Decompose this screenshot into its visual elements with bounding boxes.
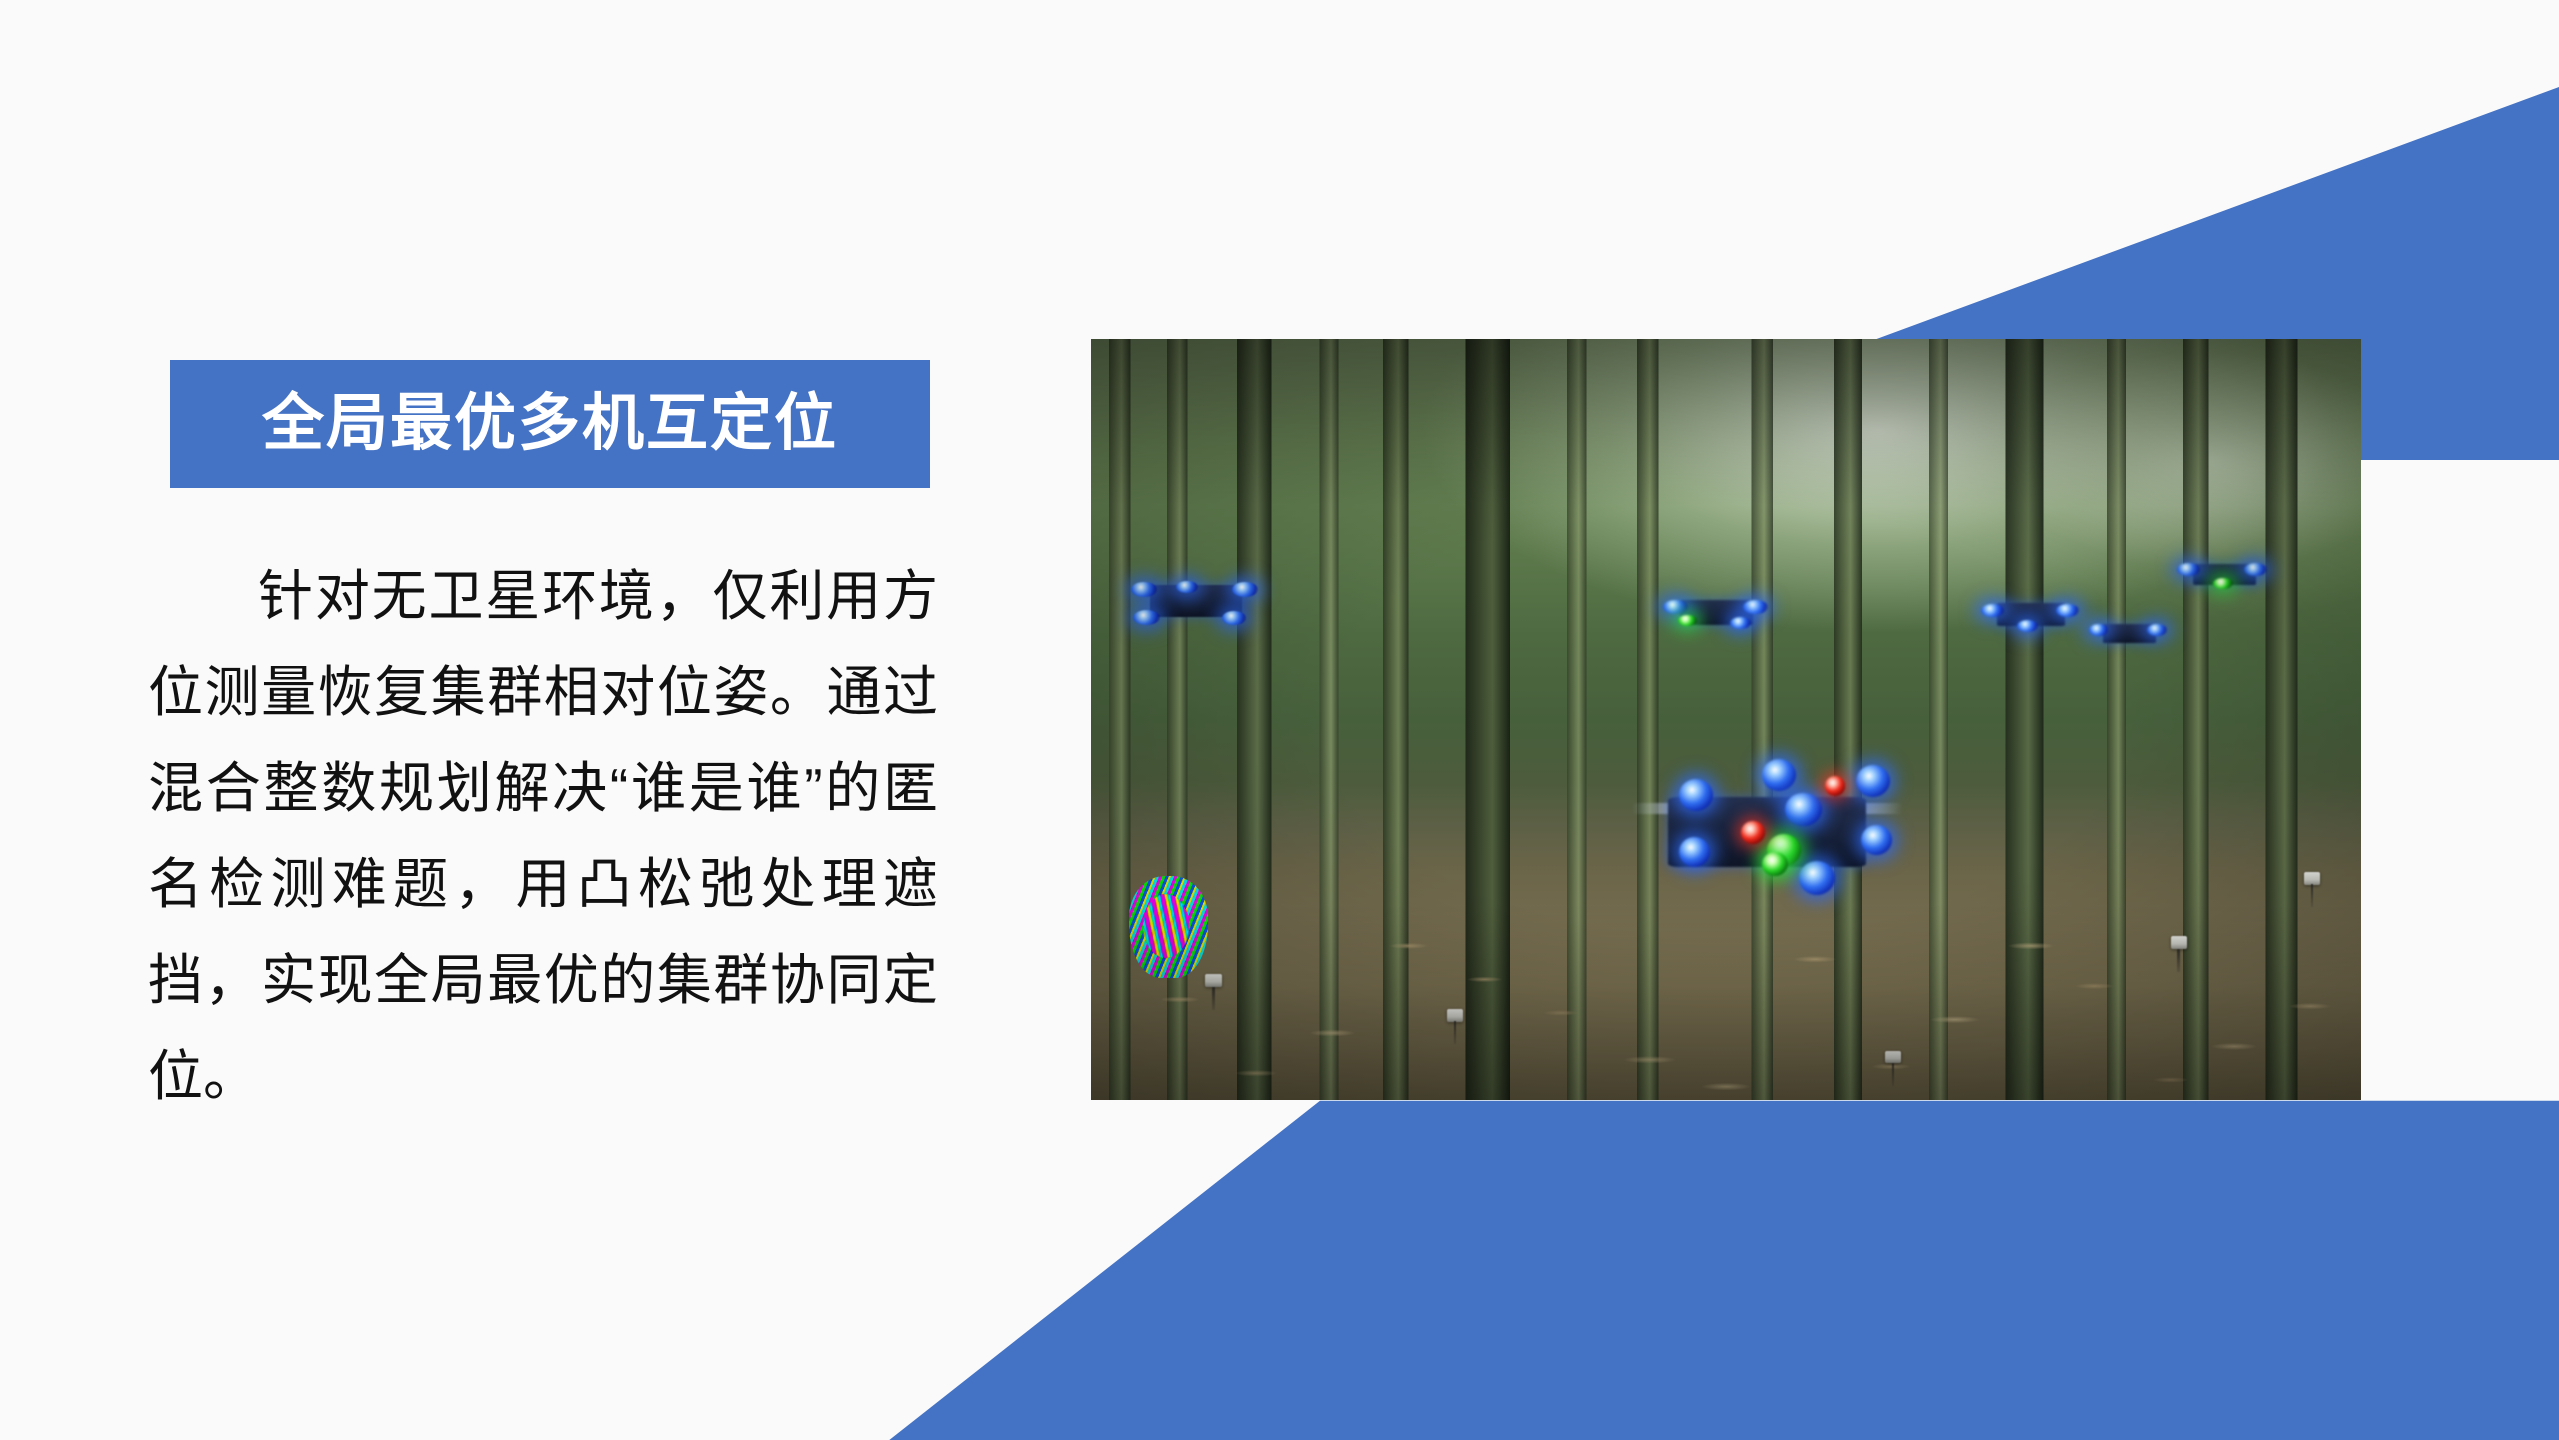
title-banner: 全局最优多机互定位: [170, 360, 930, 488]
body-paragraph: 针对无卫星环境，仅利用方位测量恢复集群相对位姿。通过混合整数规划解决“谁是谁”的…: [148, 548, 938, 1124]
bamboo-forest-photo: [1091, 339, 2361, 1100]
page-title: 全局最优多机互定位: [262, 393, 838, 455]
photo-vignette: [1091, 339, 2361, 1100]
decorative-wedge-bottom-right: [850, 1050, 2559, 1440]
slide-canvas: 全局最优多机互定位 针对无卫星环境，仅利用方位测量恢复集群相对位姿。通过混合整数…: [0, 0, 2559, 1440]
